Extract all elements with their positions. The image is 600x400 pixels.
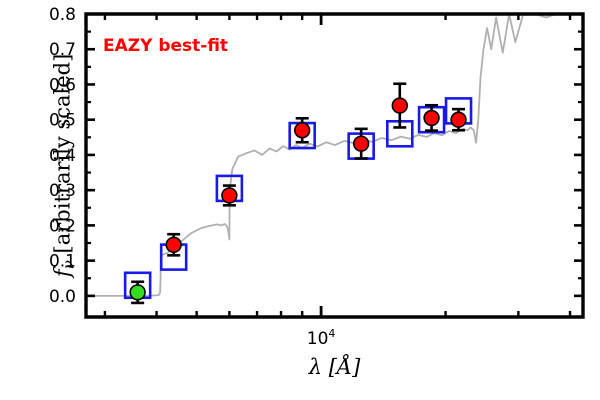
sed-plot: 0.00.10.20.30.40.50.60.70.8 104 xyxy=(0,0,600,400)
eazy-best-fit-annotation: EAZY best-fit xyxy=(103,36,228,56)
plot-background xyxy=(0,0,600,400)
flux-marker-0 xyxy=(130,285,145,300)
x-axis-unit: [Å] xyxy=(329,355,361,379)
flux-marker-5 xyxy=(392,98,407,113)
x-axis-symbol: λ xyxy=(309,355,322,379)
y-axis-unit: [arbitrarily scaled] xyxy=(51,54,75,254)
flux-marker-1 xyxy=(166,237,181,252)
x-axis-label: λ [Å] xyxy=(86,355,583,379)
flux-marker-7 xyxy=(451,112,466,127)
figure-canvas: 0.00.10.20.30.40.50.60.70.8 104 fν [arbi… xyxy=(0,0,600,400)
flux-marker-6 xyxy=(424,111,439,126)
y-axis-symbol: f xyxy=(51,269,75,277)
flux-marker-2 xyxy=(222,188,237,203)
flux-marker-3 xyxy=(295,123,310,138)
y-axis-subscript: ν xyxy=(59,260,77,269)
flux-marker-4 xyxy=(354,136,369,151)
y-axis-label: fν [arbitrarily scaled] xyxy=(51,5,78,325)
